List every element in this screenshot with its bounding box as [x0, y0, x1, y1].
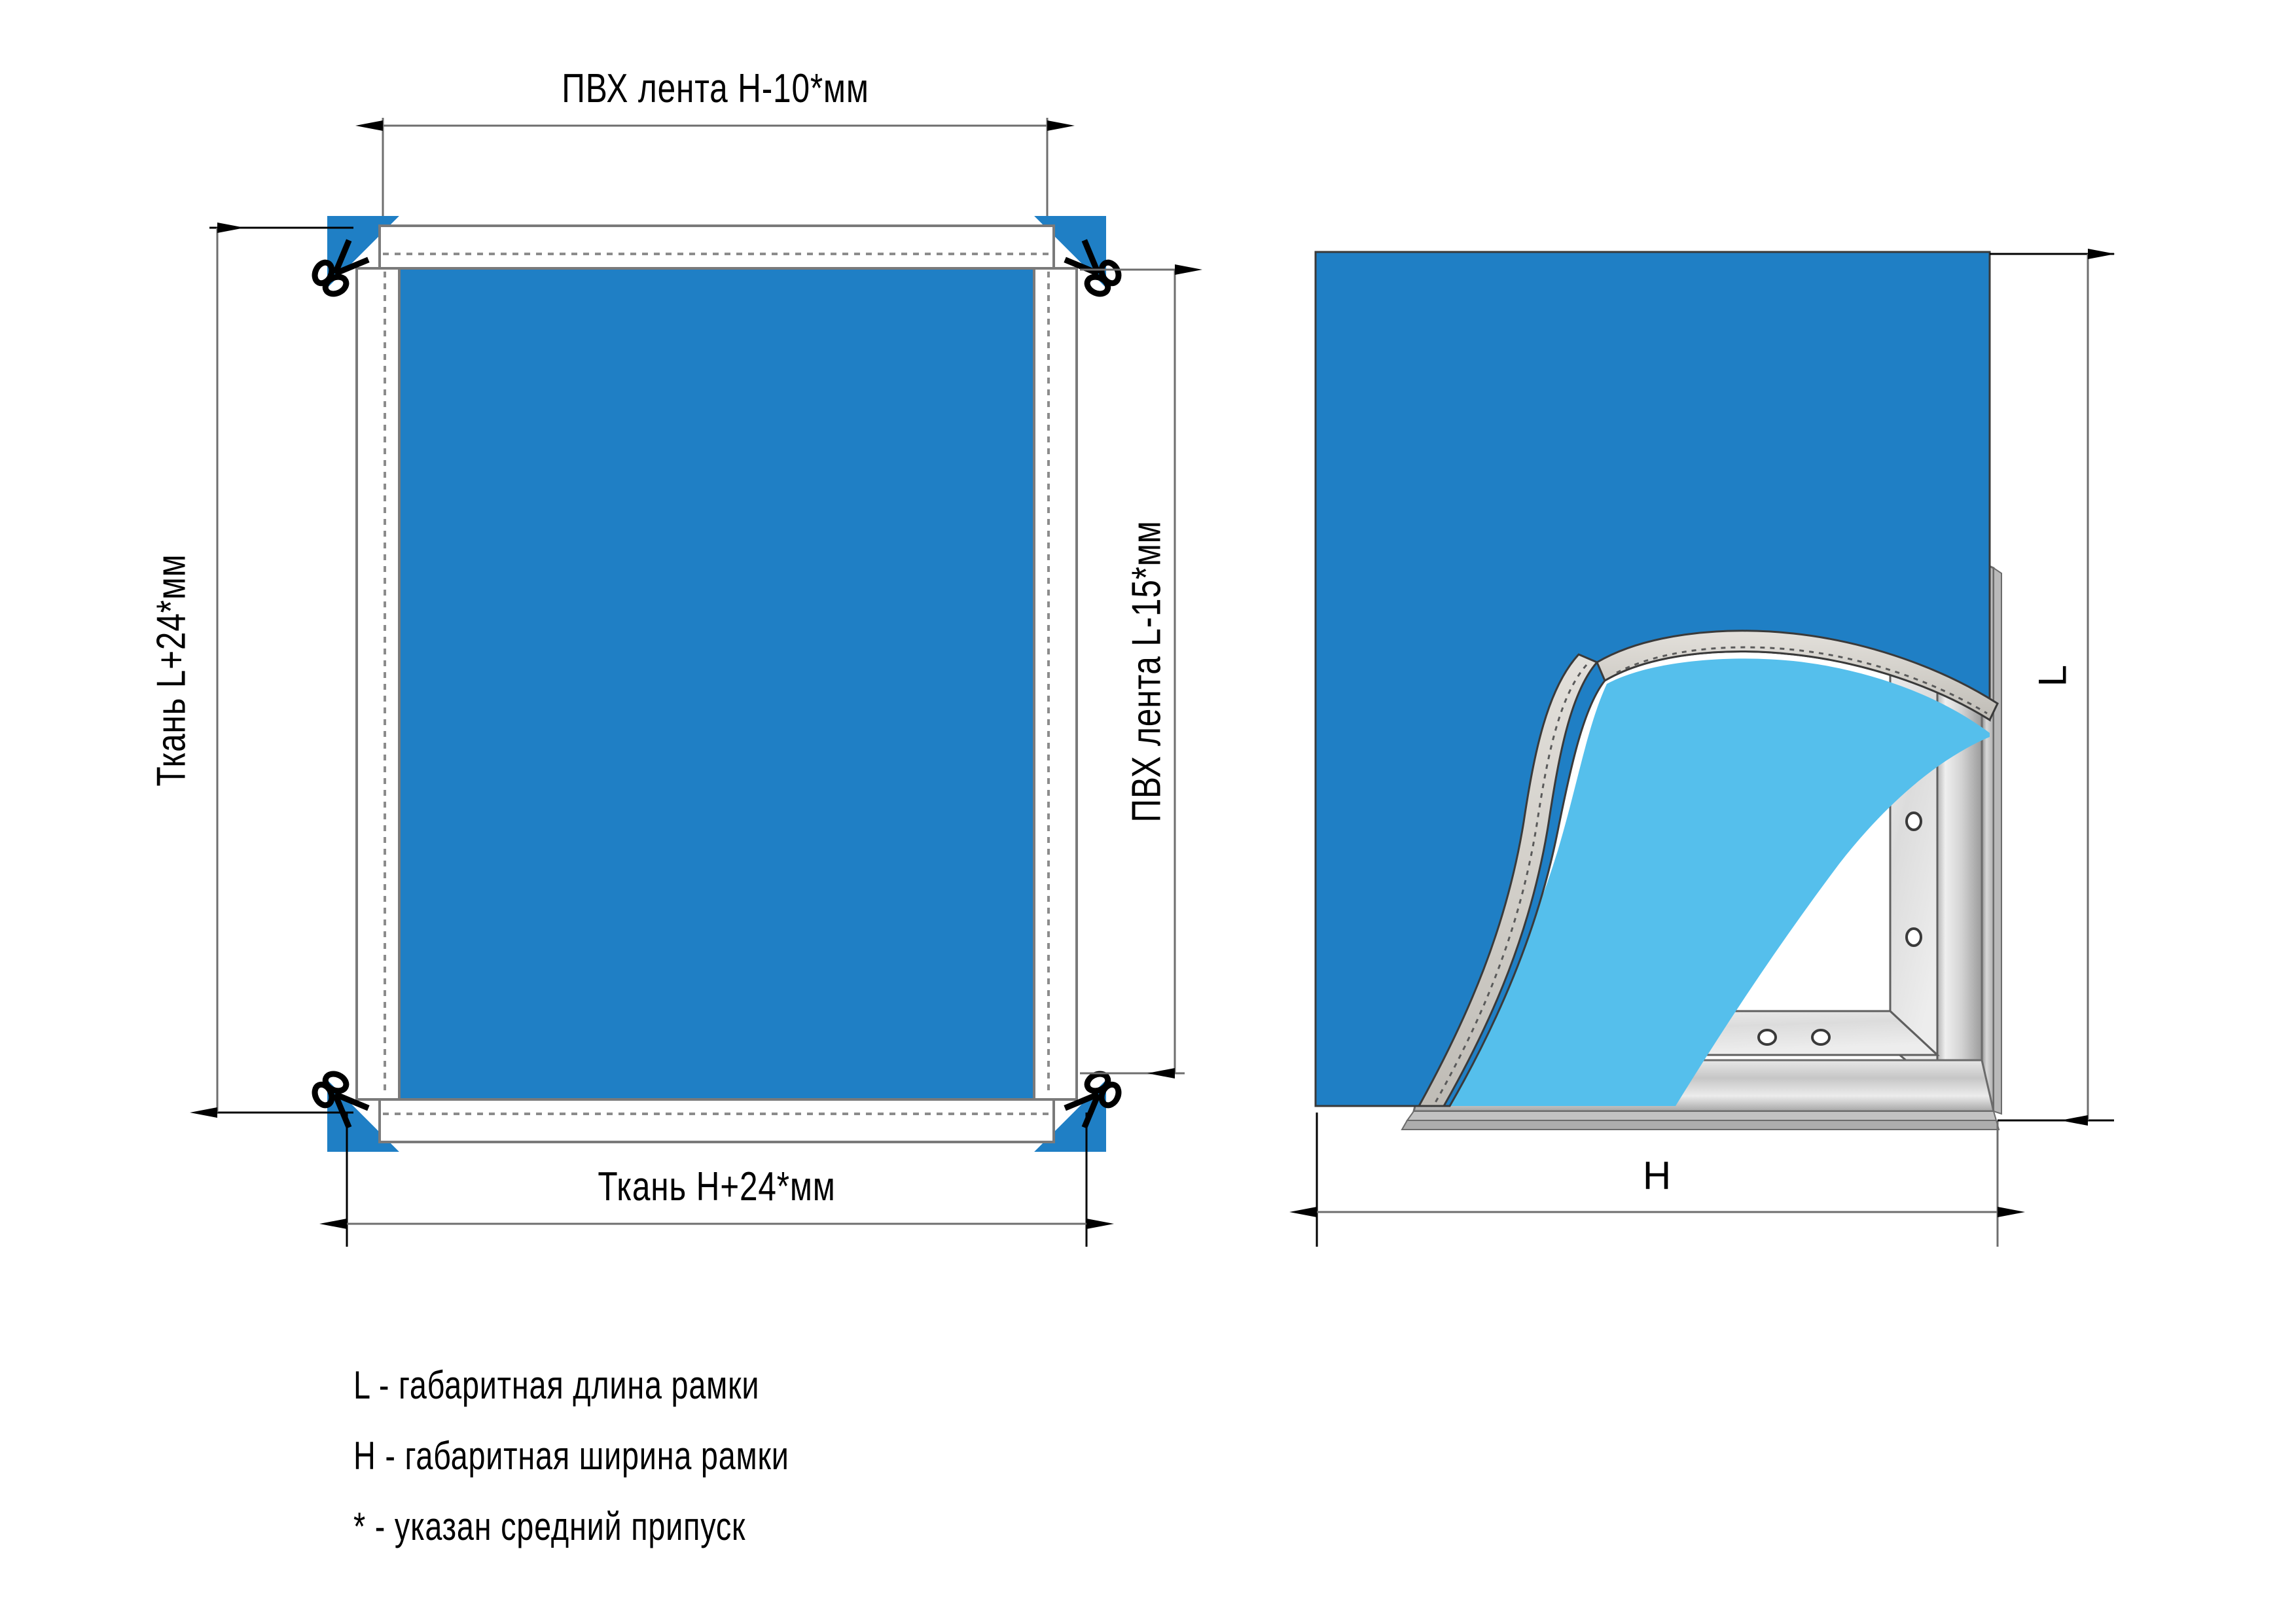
legend-item-asterisk: * - указан средний припуск — [353, 1504, 745, 1549]
pvc-tape-bottom — [380, 1099, 1054, 1142]
screw-hole-right-1 — [1907, 813, 1921, 830]
screw-hole-bottom-1 — [1759, 1030, 1776, 1044]
legend-item-h: H - габаритная ширина рамки — [353, 1433, 789, 1478]
dim-label-right-pvc-tape-l: ПВХ лента L-15*мм — [1124, 520, 1170, 822]
dim-label-bottom-fabric-h: Ткань H+24*мм — [598, 1164, 835, 1210]
frame-profile-right-edge2 — [1994, 568, 2001, 1114]
fabric-sheet-face — [401, 270, 1033, 1098]
frame-profile-bottom-edge2 — [1402, 1120, 1999, 1130]
dim-label-top-pvc-tape-h: ПВХ лента H-10*мм — [562, 65, 869, 112]
frame-profile-bottom-edge1 — [1407, 1111, 1996, 1120]
pvc-tape-right — [1034, 268, 1077, 1099]
dim-label-left-fabric-l: Ткань L+24*мм — [149, 554, 195, 786]
pvc-tape-top — [380, 226, 1054, 268]
diagram-canvas: ПВХ лента H-10*мм Ткань H+24*мм Ткань L+… — [0, 0, 2296, 1623]
right-view-group — [1316, 252, 2114, 1247]
dim-label-rv-bottom-h: H — [1643, 1153, 1672, 1198]
pvc-tape-left — [357, 268, 399, 1099]
left-view-group — [209, 118, 1185, 1247]
screw-hole-bottom-2 — [1812, 1030, 1829, 1044]
legend-item-l: L - габаритная длина рамки — [353, 1363, 759, 1408]
dim-label-rv-right-l: L — [2030, 664, 2075, 687]
screw-hole-right-2 — [1907, 929, 1921, 946]
